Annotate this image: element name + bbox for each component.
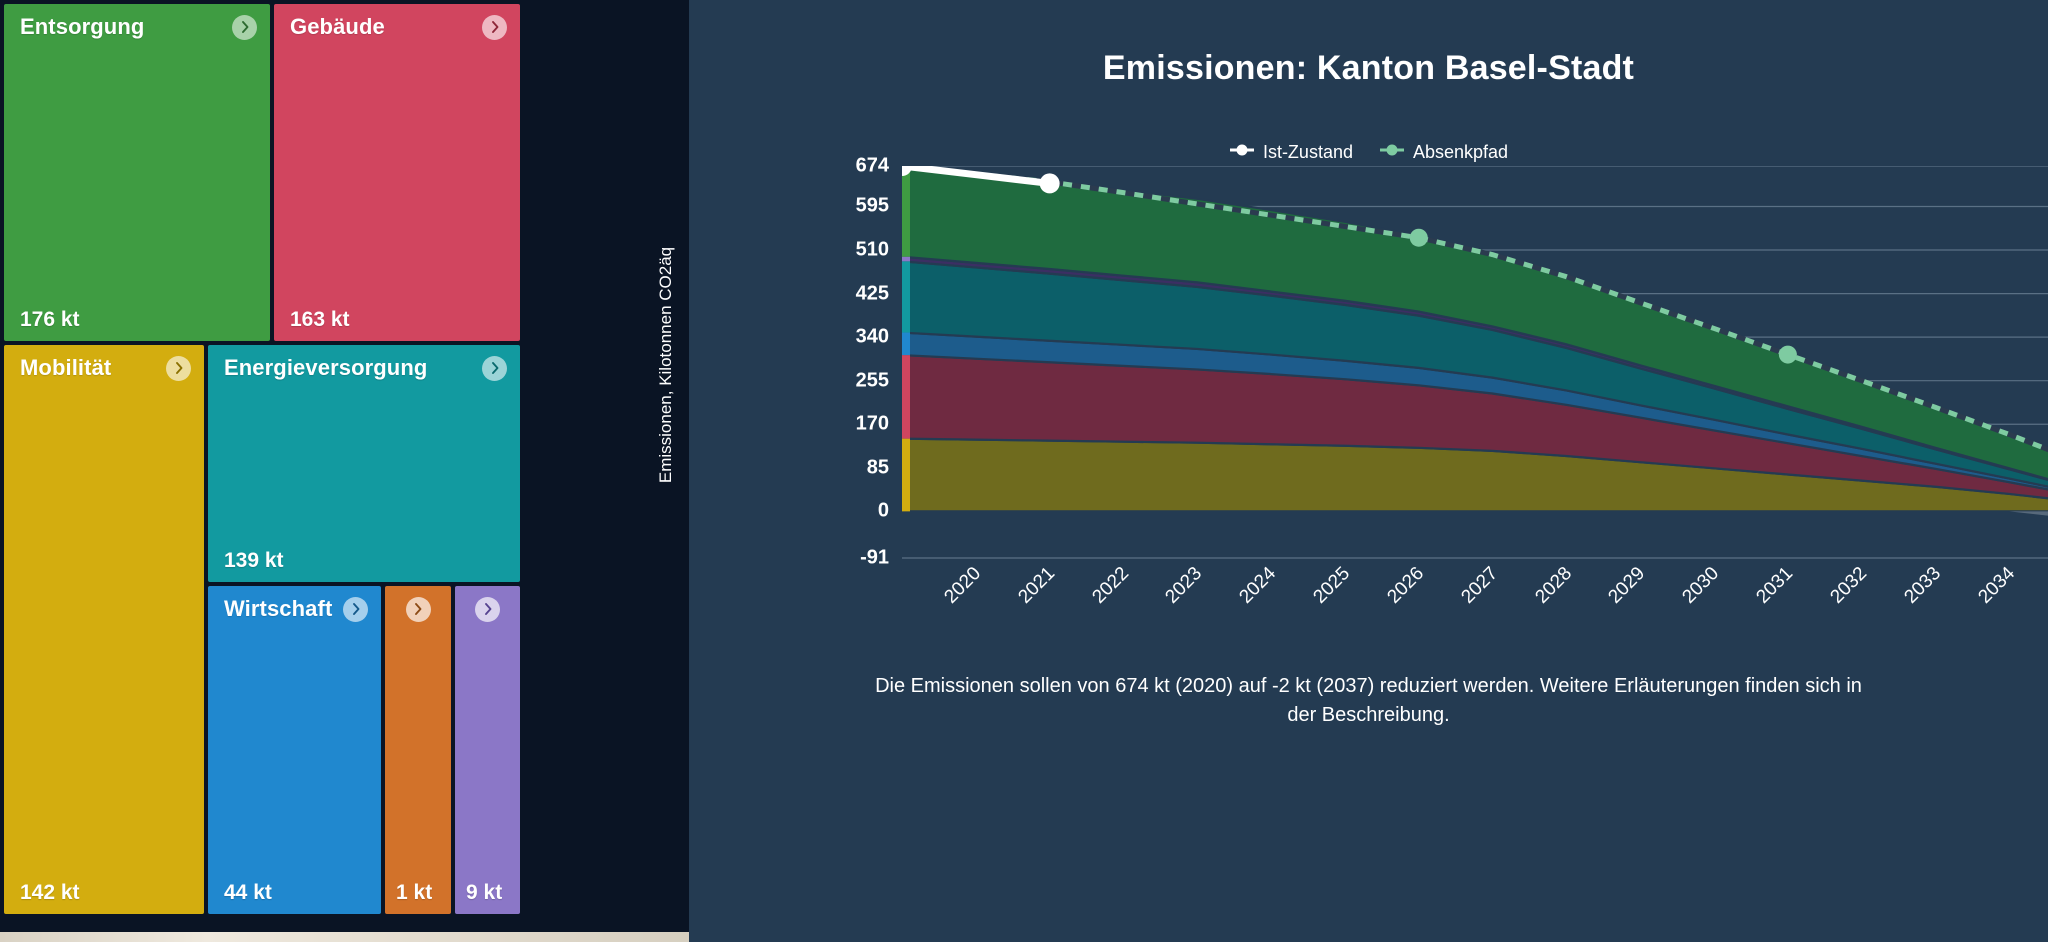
y-axis-tick-label: 85 [867,456,889,479]
chevron-right-icon[interactable] [482,15,507,40]
y-axis-tick-label: 0 [878,500,889,523]
legend-marker-icon [1379,143,1405,162]
legend-marker-icon [1229,143,1255,162]
stacked-areas [902,167,2048,512]
treemap-tile-mobilitt[interactable]: Mobilität142 kt [4,345,204,914]
treemap-tile-header: Landwirtschaft [455,586,520,632]
ist-zustand-marker[interactable] [1040,173,1060,193]
treemap-tile-energieversorgung[interactable]: Energieversorgung139 kt [208,345,520,582]
x-axis: 2020202120222023202420252026202720282029… [902,563,2048,653]
edge-bar [902,257,910,262]
y-axis-tick-label: 170 [856,413,889,436]
y-axis-tick-label: 595 [856,195,889,218]
treemap-tile-header: Industrie [385,586,451,632]
y-axis-tick-label: 425 [856,282,889,305]
treemap-tile-value: 139 kt [224,549,284,573]
legend-item-absenkpfad[interactable]: Absenkpfad [1379,142,1508,163]
page-title: Emissionen: Kanton Basel-Stadt [689,49,2048,88]
x-axis-tick-label: 2034 [1974,563,2019,608]
chevron-right-icon[interactable] [475,597,500,622]
x-axis-tick-label: 2025 [1309,563,1354,608]
chevron-right-icon[interactable] [406,597,431,622]
y-axis-tick-label: 510 [856,239,889,262]
y-axis-tick-label: 674 [856,155,889,178]
x-axis-tick-label: 2030 [1679,563,1724,608]
chart-panel: Emissionen: Kanton Basel-Stadt Ist-Zusta… [689,0,2048,942]
x-axis-tick-label: 2023 [1162,563,1207,608]
x-axis-tick-label: 2022 [1088,563,1133,608]
series-edge-markers [902,167,910,512]
treemap-tile-value: 142 kt [20,881,80,905]
chevron-right-icon[interactable] [482,356,507,381]
legend-label: Absenkpfad [1413,142,1508,163]
treemap-tile-value: 176 kt [20,308,80,332]
legend-item-istzustand[interactable]: Ist-Zustand [1229,142,1353,163]
treemap-tile-header: Energieversorgung [208,345,520,391]
x-axis-tick-label: 2021 [1014,563,1059,608]
treemap-tile-value: 9 kt [466,881,502,905]
chevron-right-icon[interactable] [166,356,191,381]
treemap: Entsorgung176 ktGebäude163 ktMobilität14… [0,0,689,942]
y-axis: -91085170255340425510595674 [794,150,889,580]
absenkpfad-marker[interactable] [1779,346,1797,364]
treemap-tile-gebude[interactable]: Gebäude163 kt [274,4,520,341]
x-axis-tick-label: 2029 [1605,563,1650,608]
x-axis-tick-label: 2031 [1752,563,1797,608]
page-bottom-edge [0,932,689,942]
y-axis-title: Emissionen, Kilotonnen CO2äq [656,195,676,535]
y-axis-tick-label: 255 [856,369,889,392]
y-axis-tick-label: 340 [856,326,889,349]
treemap-tile-label: Wirtschaft [224,596,332,622]
chart-caption: Die Emissionen sollen von 674 kt (2020) … [869,672,1869,730]
y-axis-tick-label: -91 [860,547,889,570]
area-band-negativemissionen [902,511,2048,558]
chevron-right-icon[interactable] [232,15,257,40]
edge-bar [902,261,910,332]
area-chart-plot [902,166,2048,558]
legend-label: Ist-Zustand [1263,142,1353,163]
x-axis-tick-label: 2033 [1900,563,1945,608]
treemap-tile-header: Mobilität [4,345,204,391]
chart-legend: Ist-ZustandAbsenkpfad [689,142,2048,163]
x-axis-tick-label: 2020 [940,563,985,608]
treemap-tile-header: Entsorgung [4,4,270,50]
chevron-right-icon[interactable] [343,597,368,622]
edge-bar [902,333,910,356]
treemap-tile-label: Entsorgung [20,14,144,40]
x-axis-tick-label: 2028 [1531,563,1576,608]
treemap-tile-value: 1 kt [396,881,432,905]
treemap-tile-industrie[interactable]: Industrie1 kt [385,586,451,914]
treemap-tile-header: Gebäude [274,4,520,50]
treemap-tile-label: Gebäude [290,14,385,40]
x-axis-tick-label: 2024 [1236,563,1281,608]
x-axis-tick-label: 2027 [1457,563,1502,608]
edge-bar [902,167,910,257]
treemap-tile-entsorgung[interactable]: Entsorgung176 kt [4,4,270,341]
treemap-tile-label: Energieversorgung [224,355,427,381]
area-chart-svg [902,166,2048,564]
treemap-tile-value: 44 kt [224,881,272,905]
treemap-tile-landwirtschaft[interactable]: Landwirtschaft9 kt [455,586,520,914]
treemap-tile-label: Mobilität [20,355,111,381]
treemap-tile-header: Wirtschaft [208,586,381,632]
x-axis-tick-label: 2032 [1826,563,1871,608]
y-axis-title-wrap: Emissionen, Kilotonnen CO2äq [594,150,624,580]
edge-bar [902,439,910,512]
treemap-tile-value: 163 kt [290,308,350,332]
x-axis-tick-label: 2026 [1383,563,1428,608]
absenkpfad-marker[interactable] [1410,229,1428,247]
treemap-tile-wirtschaft[interactable]: Wirtschaft44 kt [208,586,381,914]
edge-bar [902,355,910,439]
